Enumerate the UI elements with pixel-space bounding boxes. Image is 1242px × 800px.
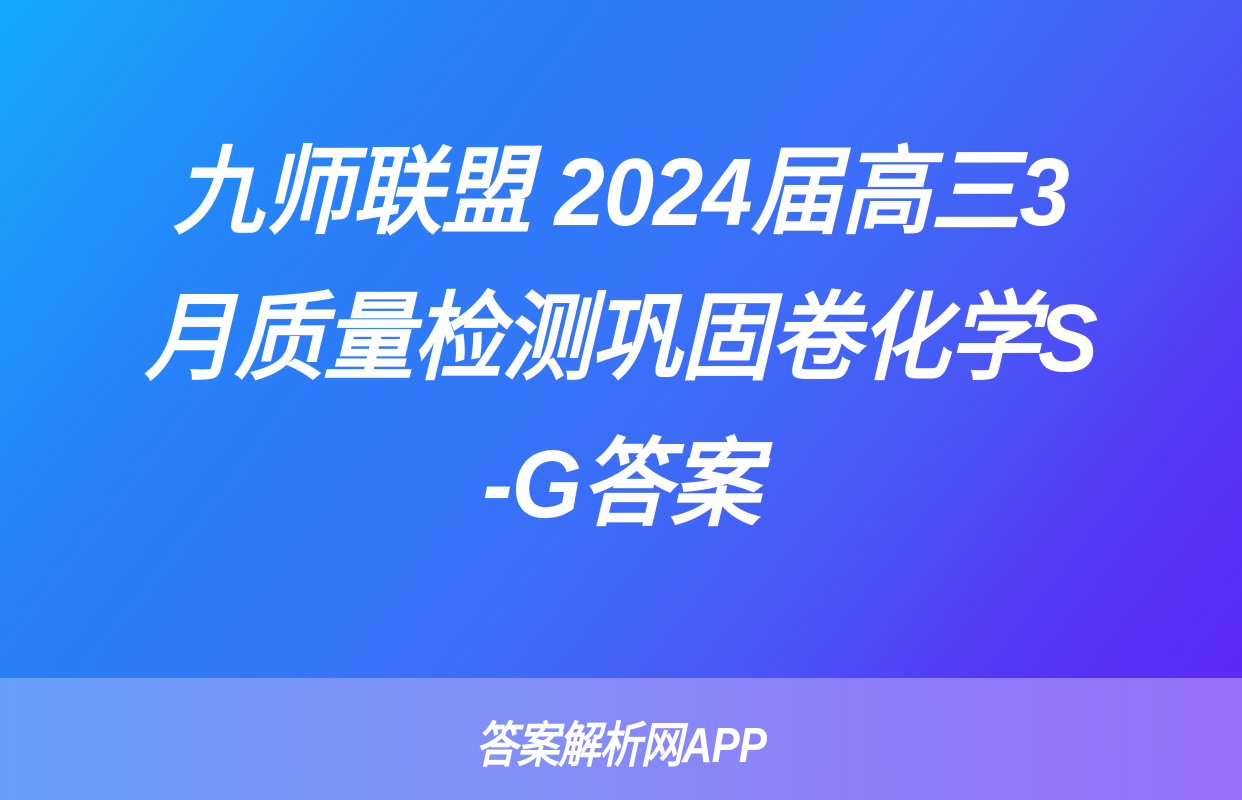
hero-gradient-banner: 九师联盟 2024届高三3月质量检测巩固卷化学S-G答案 xyxy=(0,0,1242,678)
screenshot-root: 九师联盟 2024届高三3月质量检测巩固卷化学S-G答案 答案解析网APP xyxy=(0,0,1242,800)
app-watermark-label: 答案解析网APP xyxy=(476,706,766,777)
page-title: 九师联盟 2024届高三3月质量检测巩固卷化学S-G答案 xyxy=(142,120,1101,558)
hero-content: 九师联盟 2024届高三3月质量检测巩固卷化学S-G答案 xyxy=(0,0,1242,678)
footer-watermark-band: 答案解析网APP xyxy=(0,678,1242,800)
